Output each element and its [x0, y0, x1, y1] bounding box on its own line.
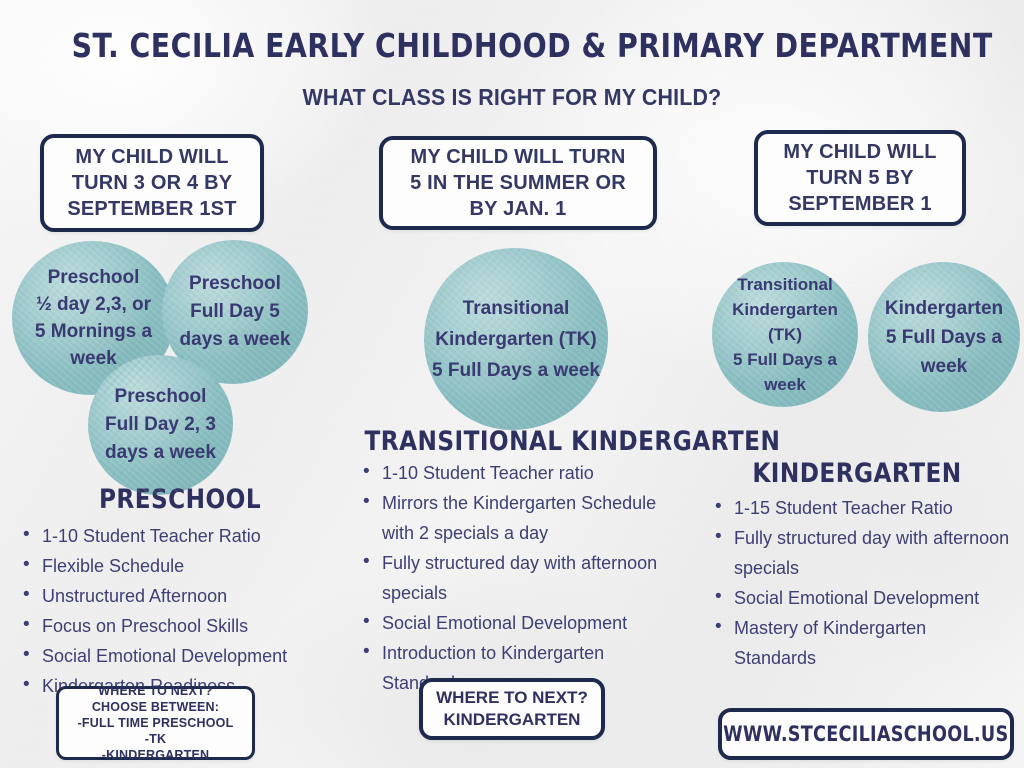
question-box-transitional-kindergarten: MY CHILD WILL TURN5 IN THE SUMMER ORBY J… [379, 136, 657, 230]
list-item: Fully structured day with afternoon spec… [360, 548, 680, 608]
list-item: Focus on Preschool Skills [20, 611, 350, 641]
infographic-canvas: ST. CECILIA EARLY CHILDHOOD & PRIMARY DE… [0, 0, 1024, 768]
question-box-kindergarten-text: MY CHILD WILLTURN 5 BYSEPTEMBER 1 [783, 139, 936, 217]
list-item: Flexible Schedule [20, 551, 350, 581]
list-item: Mirrors the Kindergarten Schedule with 2… [360, 488, 680, 548]
bullet-list-preschool: 1-10 Student Teacher RatioFlexible Sched… [20, 521, 350, 701]
list-item: Social Emotional Development [20, 641, 350, 671]
website-url-box[interactable]: WWW.STCECILIASCHOOL.US [718, 708, 1014, 760]
circle-preschool-full-day-2-3-text: PreschoolFull Day 2, 3days a week [105, 383, 216, 467]
list-item: 1-15 Student Teacher Ratio [712, 493, 1012, 523]
list-item: 1-10 Student Teacher ratio [360, 458, 680, 488]
circle-kindergarten: Kindergarten5 Full Days aweek [868, 262, 1020, 412]
list-item: 1-10 Student Teacher Ratio [20, 521, 350, 551]
where-to-next-box-preschool-text: WHERE TO NEXT?CHOOSE BETWEEN:-FULL TIME … [78, 683, 234, 763]
where-to-next-box-transitional-kindergarten-text: WHERE TO NEXT?KINDERGARTEN [436, 687, 588, 731]
circle-kindergarten-text: Kindergarten5 Full Days aweek [885, 294, 1003, 381]
page-title: ST. CECILIA EARLY CHILDHOOD & PRIMARY DE… [72, 27, 953, 65]
circle-preschool-full-day-5-text: PreschoolFull Day 5days a week [180, 270, 291, 354]
question-box-preschool: MY CHILD WILLTURN 3 OR 4 BYSEPTEMBER 1ST [40, 134, 264, 232]
question-box-preschool-text: MY CHILD WILLTURN 3 OR 4 BYSEPTEMBER 1ST [67, 144, 236, 222]
list-item: Mastery of Kindergarten Standards [712, 613, 1012, 673]
bullet-list-transitional-kindergarten: 1-10 Student Teacher ratioMirrors the Ki… [360, 458, 680, 698]
question-box-kindergarten: MY CHILD WILLTURN 5 BYSEPTEMBER 1 [754, 130, 966, 226]
where-to-next-box-transitional-kindergarten: WHERE TO NEXT?KINDERGARTEN [419, 678, 605, 740]
bullet-list-kindergarten: 1-15 Student Teacher RatioFully structur… [712, 493, 1012, 673]
page-subtitle: WHAT CLASS IS RIGHT FOR MY CHILD? [36, 84, 988, 111]
circle-transitional-kindergarten-right: TransitionalKindergarten(TK)5 Full Days … [712, 262, 858, 407]
circle-preschool-half-day-text: Preschool½ day 2,3, or5 Mornings aweek [35, 264, 152, 372]
list-item: Unstructured Afternoon [20, 581, 350, 611]
circle-preschool-half-day: Preschool½ day 2,3, or5 Mornings aweek [12, 241, 175, 395]
list-item: Fully structured day with afternoon spec… [712, 523, 1012, 583]
circle-transitional-kindergarten-text: TransitionalKindergarten (TK)5 Full Days… [432, 293, 600, 386]
circle-preschool-full-day-2-3: PreschoolFull Day 2, 3days a week [88, 355, 233, 495]
circle-transitional-kindergarten-right-text: TransitionalKindergarten(TK)5 Full Days … [732, 272, 838, 397]
list-item: Social Emotional Development [712, 583, 1012, 613]
circle-transitional-kindergarten: TransitionalKindergarten (TK)5 Full Days… [424, 248, 608, 430]
list-item: Social Emotional Development [360, 608, 680, 638]
section-heading-kindergarten: KINDERGARTEN [713, 458, 1000, 489]
where-to-next-box-preschool: WHERE TO NEXT?CHOOSE BETWEEN:-FULL TIME … [56, 686, 255, 760]
section-heading-transitional-kindergarten: TRANSITIONAL KINDERGARTEN [365, 426, 666, 457]
website-url-text: WWW.STCECILIASCHOOL.US [723, 722, 1008, 746]
question-box-transitional-kindergarten-text: MY CHILD WILL TURN5 IN THE SUMMER ORBY J… [410, 144, 626, 222]
